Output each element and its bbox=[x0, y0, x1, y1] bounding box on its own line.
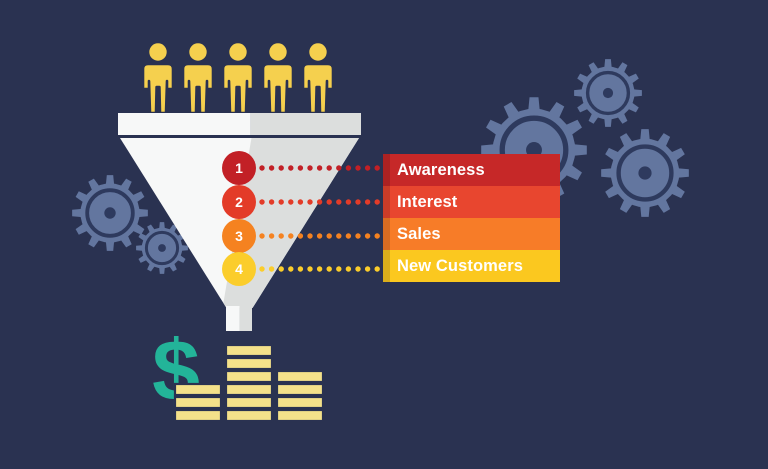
connector-dot bbox=[279, 233, 284, 238]
coin bbox=[175, 384, 221, 395]
connector-dot bbox=[259, 233, 264, 238]
coin bbox=[226, 358, 272, 369]
connector-dot bbox=[336, 233, 341, 238]
connector-dot bbox=[365, 165, 370, 170]
connector-dot bbox=[317, 233, 322, 238]
person-icon-2 bbox=[183, 42, 213, 113]
connector-dot bbox=[327, 165, 332, 170]
person-body-1 bbox=[143, 64, 173, 113]
stage-label-1: Awareness bbox=[397, 161, 485, 180]
coin-stack-middle bbox=[226, 345, 272, 421]
coin bbox=[175, 397, 221, 408]
connector-dot bbox=[298, 165, 303, 170]
connector-dot bbox=[355, 266, 360, 271]
connector-dot bbox=[327, 199, 332, 204]
person-head-5 bbox=[308, 42, 328, 62]
funnel-spout-left bbox=[226, 306, 240, 331]
coin bbox=[175, 410, 221, 421]
stage-badge-number-4: 4 bbox=[235, 262, 243, 276]
coin-stack-left bbox=[175, 384, 221, 421]
coin bbox=[277, 410, 323, 421]
person-body-5 bbox=[303, 64, 333, 113]
coin-stack-right bbox=[277, 371, 323, 421]
connector-dot bbox=[346, 199, 351, 204]
person-head-1 bbox=[148, 42, 168, 62]
stage-label-2: Interest bbox=[397, 193, 457, 212]
connector-dot bbox=[375, 165, 380, 170]
stage-badge-4[interactable]: 4 bbox=[222, 252, 256, 286]
connector-dot bbox=[317, 266, 322, 271]
coin bbox=[226, 345, 272, 356]
connector-dot bbox=[259, 266, 264, 271]
connector-dot bbox=[298, 266, 303, 271]
funnel-spout-right bbox=[240, 306, 252, 331]
person-icon-3 bbox=[223, 42, 253, 113]
stage-badge-3[interactable]: 3 bbox=[222, 219, 256, 253]
connector-dot bbox=[365, 199, 370, 204]
connector-dot bbox=[355, 165, 360, 170]
connector-dot bbox=[336, 165, 341, 170]
stage-label-3: Sales bbox=[397, 225, 441, 244]
funnel-top-bar-right bbox=[250, 113, 361, 135]
connector-dot bbox=[317, 165, 322, 170]
coin bbox=[226, 410, 272, 421]
infographic-canvas: $ AwarenessInterestSalesNew Customers 12… bbox=[0, 0, 768, 469]
stage-badge-number-2: 2 bbox=[235, 195, 243, 209]
connector-dot bbox=[317, 199, 322, 204]
connector-dot bbox=[307, 233, 312, 238]
stage-bar-4[interactable]: New Customers bbox=[383, 250, 560, 282]
stage-badge-1[interactable]: 1 bbox=[222, 151, 256, 185]
connector-dot bbox=[288, 165, 293, 170]
coin bbox=[226, 371, 272, 382]
connector-dot bbox=[355, 199, 360, 204]
connector-dot bbox=[336, 266, 341, 271]
connector-dot bbox=[346, 165, 351, 170]
person-icon-1 bbox=[143, 42, 173, 113]
coin bbox=[226, 384, 272, 395]
person-head-2 bbox=[188, 42, 208, 62]
person-head-3 bbox=[228, 42, 248, 62]
connector-dot bbox=[279, 165, 284, 170]
connector-dot bbox=[327, 233, 332, 238]
people-group bbox=[143, 42, 333, 113]
connector-dot bbox=[288, 233, 293, 238]
connector-dot bbox=[365, 266, 370, 271]
connector-dot bbox=[269, 199, 274, 204]
stage-bar-1[interactable]: Awareness bbox=[383, 154, 560, 186]
stage-bar-3[interactable]: Sales bbox=[383, 218, 560, 250]
stage-badge-number-3: 3 bbox=[235, 229, 243, 243]
connector-dot bbox=[288, 199, 293, 204]
funnel-spout bbox=[226, 306, 252, 331]
connector-dot bbox=[269, 233, 274, 238]
connector-dot bbox=[298, 233, 303, 238]
person-head-4 bbox=[268, 42, 288, 62]
funnel-top-bar-left bbox=[118, 113, 250, 135]
stage-bar-2[interactable]: Interest bbox=[383, 186, 560, 218]
connector-dot bbox=[269, 266, 274, 271]
person-body-2 bbox=[183, 64, 213, 113]
connector-dot bbox=[279, 199, 284, 204]
connector-dot bbox=[375, 233, 380, 238]
stage-label-4: New Customers bbox=[397, 257, 523, 276]
money-group: $ bbox=[152, 323, 323, 421]
connector-dot bbox=[307, 266, 312, 271]
stage-badge-2[interactable]: 2 bbox=[222, 185, 256, 219]
connector-dot bbox=[336, 199, 341, 204]
connector-dot bbox=[279, 266, 284, 271]
connector-dot bbox=[355, 233, 360, 238]
connector-dot bbox=[346, 233, 351, 238]
connector-dot bbox=[269, 165, 274, 170]
person-body-4 bbox=[263, 64, 293, 113]
coin bbox=[226, 397, 272, 408]
coin bbox=[277, 397, 323, 408]
stage-badge-number-1: 1 bbox=[235, 161, 243, 175]
coin bbox=[277, 384, 323, 395]
connector-dot bbox=[298, 199, 303, 204]
connector-dot bbox=[259, 199, 264, 204]
connector-dot bbox=[375, 266, 380, 271]
connector-dot bbox=[307, 165, 312, 170]
coin bbox=[277, 371, 323, 382]
person-body-3 bbox=[223, 64, 253, 113]
connector-dot bbox=[375, 199, 380, 204]
connector-dot bbox=[288, 266, 293, 271]
person-icon-4 bbox=[263, 42, 293, 113]
connector-dot bbox=[327, 266, 332, 271]
person-icon-5 bbox=[303, 42, 333, 113]
connector-dot bbox=[346, 266, 351, 271]
connector-dot bbox=[307, 199, 312, 204]
funnel-top-bar bbox=[118, 113, 361, 135]
connector-dot bbox=[365, 233, 370, 238]
connector-dot bbox=[259, 165, 264, 170]
